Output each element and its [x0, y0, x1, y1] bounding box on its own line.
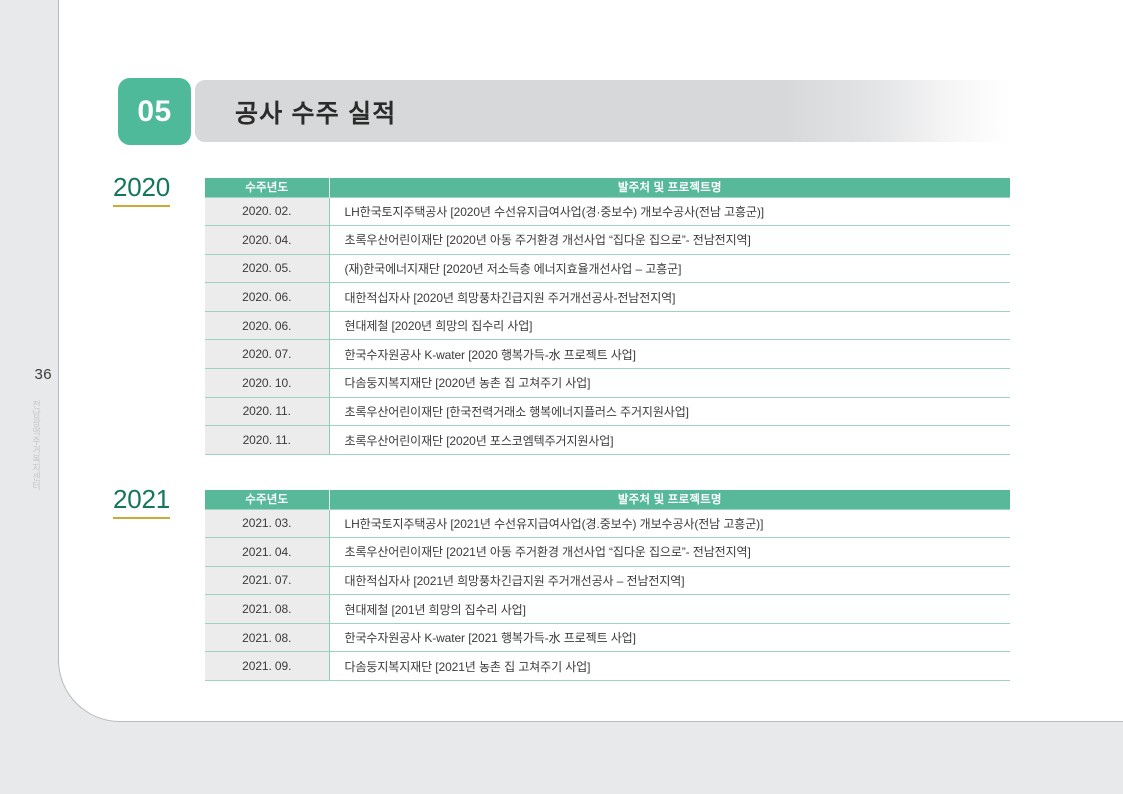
cell-project: 현대제철 [201년 희망의 집수리 사업]: [329, 595, 1010, 624]
table-header-row: 수주년도 발주처 및 프로젝트명: [205, 178, 1010, 197]
cell-year: 2020. 07.: [205, 340, 329, 369]
side-margin-organization-label: 전남광역주거복지센터: [23, 400, 41, 490]
cell-year: 2020. 05.: [205, 254, 329, 283]
cell-year: 2020. 10.: [205, 369, 329, 398]
table-row: 2020. 06.현대제철 [2020년 희망의 집수리 사업]: [205, 311, 1010, 340]
table-row: 2020. 11.초록우산어린이재단 [한국전력거래소 행복에너지플러스 주거지…: [205, 397, 1010, 426]
cell-project: 한국수자원공사 K-water [2021 행복가득-水 프로젝트 사업]: [329, 623, 1010, 652]
cell-project: 초록우산어린이재단 [2021년 아동 주거환경 개선사업 “집다운 집으로”-…: [329, 538, 1010, 567]
cell-project: 초록우산어린이재단 [2020년 포스코엠텍주거지원사업]: [329, 426, 1010, 455]
year-heading-2020: 2020: [113, 174, 170, 207]
table-row: 2020. 11.초록우산어린이재단 [2020년 포스코엠텍주거지원사업]: [205, 426, 1010, 455]
page-title: 공사 수주 실적: [235, 78, 397, 145]
cell-project: (재)한국에너지재단 [2020년 저소득층 에너지효율개선사업 – 고흥군]: [329, 254, 1010, 283]
table-row: 2020. 10.다솜둥지복지재단 [2020년 농촌 집 고쳐주기 사업]: [205, 369, 1010, 398]
cell-year: 2020. 11.: [205, 426, 329, 455]
page-canvas: 36 전남광역주거복지센터 05 공사 수주 실적 2020 수주년도 발주처 …: [0, 0, 1123, 794]
cell-project: LH한국토지주택공사 [2021년 수선유지급여사업(경.중보수) 개보수공사(…: [329, 509, 1010, 538]
cell-year: 2020. 02.: [205, 197, 329, 226]
cell-year: 2021. 03.: [205, 509, 329, 538]
section-number-badge: 05: [118, 78, 191, 145]
table-row: 2020. 04.초록우산어린이재단 [2020년 아동 주거환경 개선사업 “…: [205, 226, 1010, 255]
contract-table-2021: 수주년도 발주처 및 프로젝트명 2021. 03.LH한국토지주택공사 [20…: [205, 490, 1010, 681]
column-header-year: 수주년도: [205, 490, 329, 509]
table-row: 2021. 07.대한적십자사 [2021년 희망풍차긴급지원 주거개선공사 –…: [205, 566, 1010, 595]
cell-year: 2021. 07.: [205, 566, 329, 595]
column-header-project: 발주처 및 프로젝트명: [329, 178, 1010, 197]
table-row: 2020. 05.(재)한국에너지재단 [2020년 저소득층 에너지효율개선사…: [205, 254, 1010, 283]
cell-year: 2020. 04.: [205, 226, 329, 255]
cell-project: 다솜둥지복지재단 [2021년 농촌 집 고쳐주기 사업]: [329, 652, 1010, 681]
table-row: 2020. 06.대한적십자사 [2020년 희망풍차긴급지원 주거개선공사-전…: [205, 283, 1010, 312]
cell-year: 2021. 08.: [205, 595, 329, 624]
cell-project: 초록우산어린이재단 [2020년 아동 주거환경 개선사업 “집다운 집으로”-…: [329, 226, 1010, 255]
cell-project: 현대제철 [2020년 희망의 집수리 사업]: [329, 311, 1010, 340]
cell-year: 2020. 06.: [205, 283, 329, 312]
table-row: 2021. 08.한국수자원공사 K-water [2021 행복가득-水 프로…: [205, 623, 1010, 652]
cell-project: LH한국토지주택공사 [2020년 수선유지급여사업(경·중보수) 개보수공사(…: [329, 197, 1010, 226]
table-row: 2021. 08.현대제철 [201년 희망의 집수리 사업]: [205, 595, 1010, 624]
table-row: 2020. 02.LH한국토지주택공사 [2020년 수선유지급여사업(경·중보…: [205, 197, 1010, 226]
contract-table-2020: 수주년도 발주처 및 프로젝트명 2020. 02.LH한국토지주택공사 [20…: [205, 178, 1010, 455]
cell-project: 다솜둥지복지재단 [2020년 농촌 집 고쳐주기 사업]: [329, 369, 1010, 398]
column-header-project: 발주처 및 프로젝트명: [329, 490, 1010, 509]
cell-project: 한국수자원공사 K-water [2020 행복가득-水 프로젝트 사업]: [329, 340, 1010, 369]
cell-year: 2021. 08.: [205, 623, 329, 652]
table-row: 2021. 03.LH한국토지주택공사 [2021년 수선유지급여사업(경.중보…: [205, 509, 1010, 538]
cell-year: 2021. 09.: [205, 652, 329, 681]
table-row: 2020. 07.한국수자원공사 K-water [2020 행복가득-水 프로…: [205, 340, 1010, 369]
table-row: 2021. 04.초록우산어린이재단 [2021년 아동 주거환경 개선사업 “…: [205, 538, 1010, 567]
column-header-year: 수주년도: [205, 178, 329, 197]
cell-year: 2020. 11.: [205, 397, 329, 426]
cell-project: 대한적십자사 [2020년 희망풍차긴급지원 주거개선공사-전남전지역]: [329, 283, 1010, 312]
table-row: 2021. 09.다솜둥지복지재단 [2021년 농촌 집 고쳐주기 사업]: [205, 652, 1010, 681]
year-heading-2021: 2021: [113, 486, 170, 519]
page-number: 36: [0, 366, 52, 383]
cell-project: 대한적십자사 [2021년 희망풍차긴급지원 주거개선공사 – 전남전지역]: [329, 566, 1010, 595]
cell-project: 초록우산어린이재단 [한국전력거래소 행복에너지플러스 주거지원사업]: [329, 397, 1010, 426]
cell-year: 2021. 04.: [205, 538, 329, 567]
cell-year: 2020. 06.: [205, 311, 329, 340]
section-header: 05 공사 수주 실적: [118, 78, 1010, 145]
table-header-row: 수주년도 발주처 및 프로젝트명: [205, 490, 1010, 509]
